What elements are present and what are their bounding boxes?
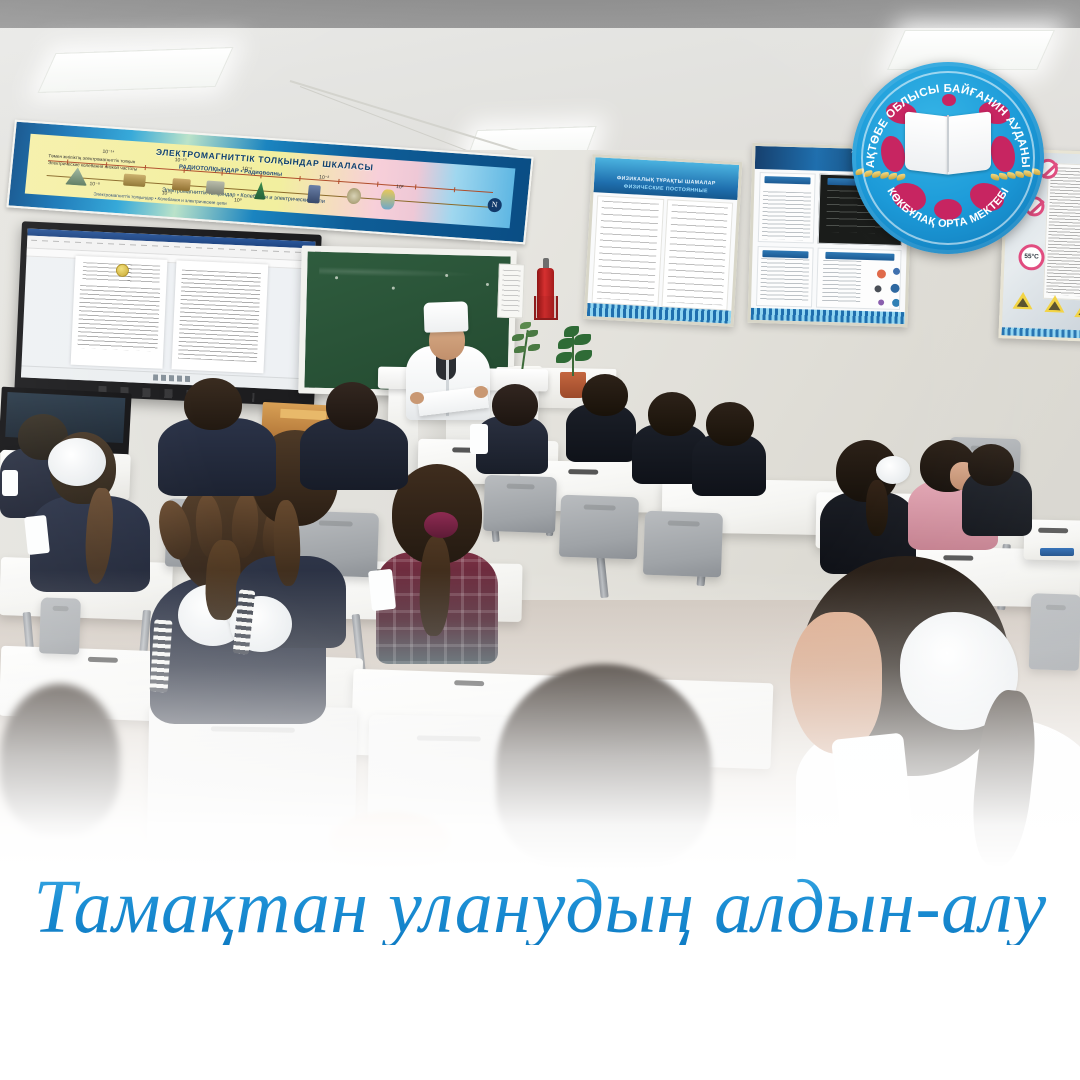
interactive-whiteboard[interactable] — [14, 221, 321, 406]
banner-note: Төмен жиіліктің электромагниттік толқын … — [47, 153, 155, 174]
poster-text-column — [1043, 163, 1080, 301]
medical-cap — [423, 301, 468, 333]
warning-general-icon — [1074, 300, 1080, 318]
banner-illustration — [346, 188, 362, 205]
student-chair — [1029, 593, 1080, 671]
physics-constants-poster: ФИЗИКАЛЫҚ ТҰРАҚТЫ ШАМАЛАР ФИЗИЧЕСКИЕ ПОС… — [584, 154, 743, 327]
ceiling-led-panel — [38, 47, 234, 93]
school-emblem-logo: АҚТӨБЕ ОБЛЫСЫ БАЙҒАНИН АУДАНЫ КӨКБҰЛАҚ О… — [852, 62, 1044, 254]
student-chair — [643, 511, 723, 578]
atom-diagram-icon — [870, 265, 896, 301]
banner-illustration — [172, 178, 191, 191]
student-chair — [483, 475, 557, 533]
document-page — [71, 256, 168, 369]
banner-illustration — [206, 180, 225, 194]
bottom-whitespace — [0, 955, 1080, 1080]
warning-electric-icon — [1013, 292, 1034, 310]
warning-flammable-icon — [1044, 295, 1065, 313]
wall-notice — [497, 264, 525, 319]
document-page — [171, 261, 268, 374]
caption-banner: Тамақтан уланудың алдын-алу — [0, 852, 1080, 962]
hair-tie — [424, 512, 458, 538]
banner-mark: N — [487, 198, 502, 213]
banner-illustration — [307, 185, 321, 204]
banner-illustration — [379, 189, 395, 210]
student-chair — [559, 495, 639, 560]
state-seal-icon — [115, 263, 129, 277]
notebook — [1040, 548, 1074, 556]
banner-radio-label: РАДИОТОЛҚЫНДАР • Радиоволны — [179, 165, 283, 178]
hand — [410, 392, 424, 404]
face-profile — [790, 612, 882, 754]
student-chair — [147, 704, 358, 856]
hand — [474, 386, 488, 398]
caption-text: Тамақтан уланудың алдын-алу — [33, 869, 1046, 945]
extinguisher-bracket — [534, 296, 558, 320]
banner-illustration — [124, 173, 147, 187]
whiteboard-screen — [21, 229, 315, 391]
student-chair — [39, 597, 81, 654]
poster-canvas: ЭЛЕКТРОМАГНИТТІК ТОЛҚЫНДАР ШКАЛАСЫ Төмен… — [0, 0, 1080, 1080]
